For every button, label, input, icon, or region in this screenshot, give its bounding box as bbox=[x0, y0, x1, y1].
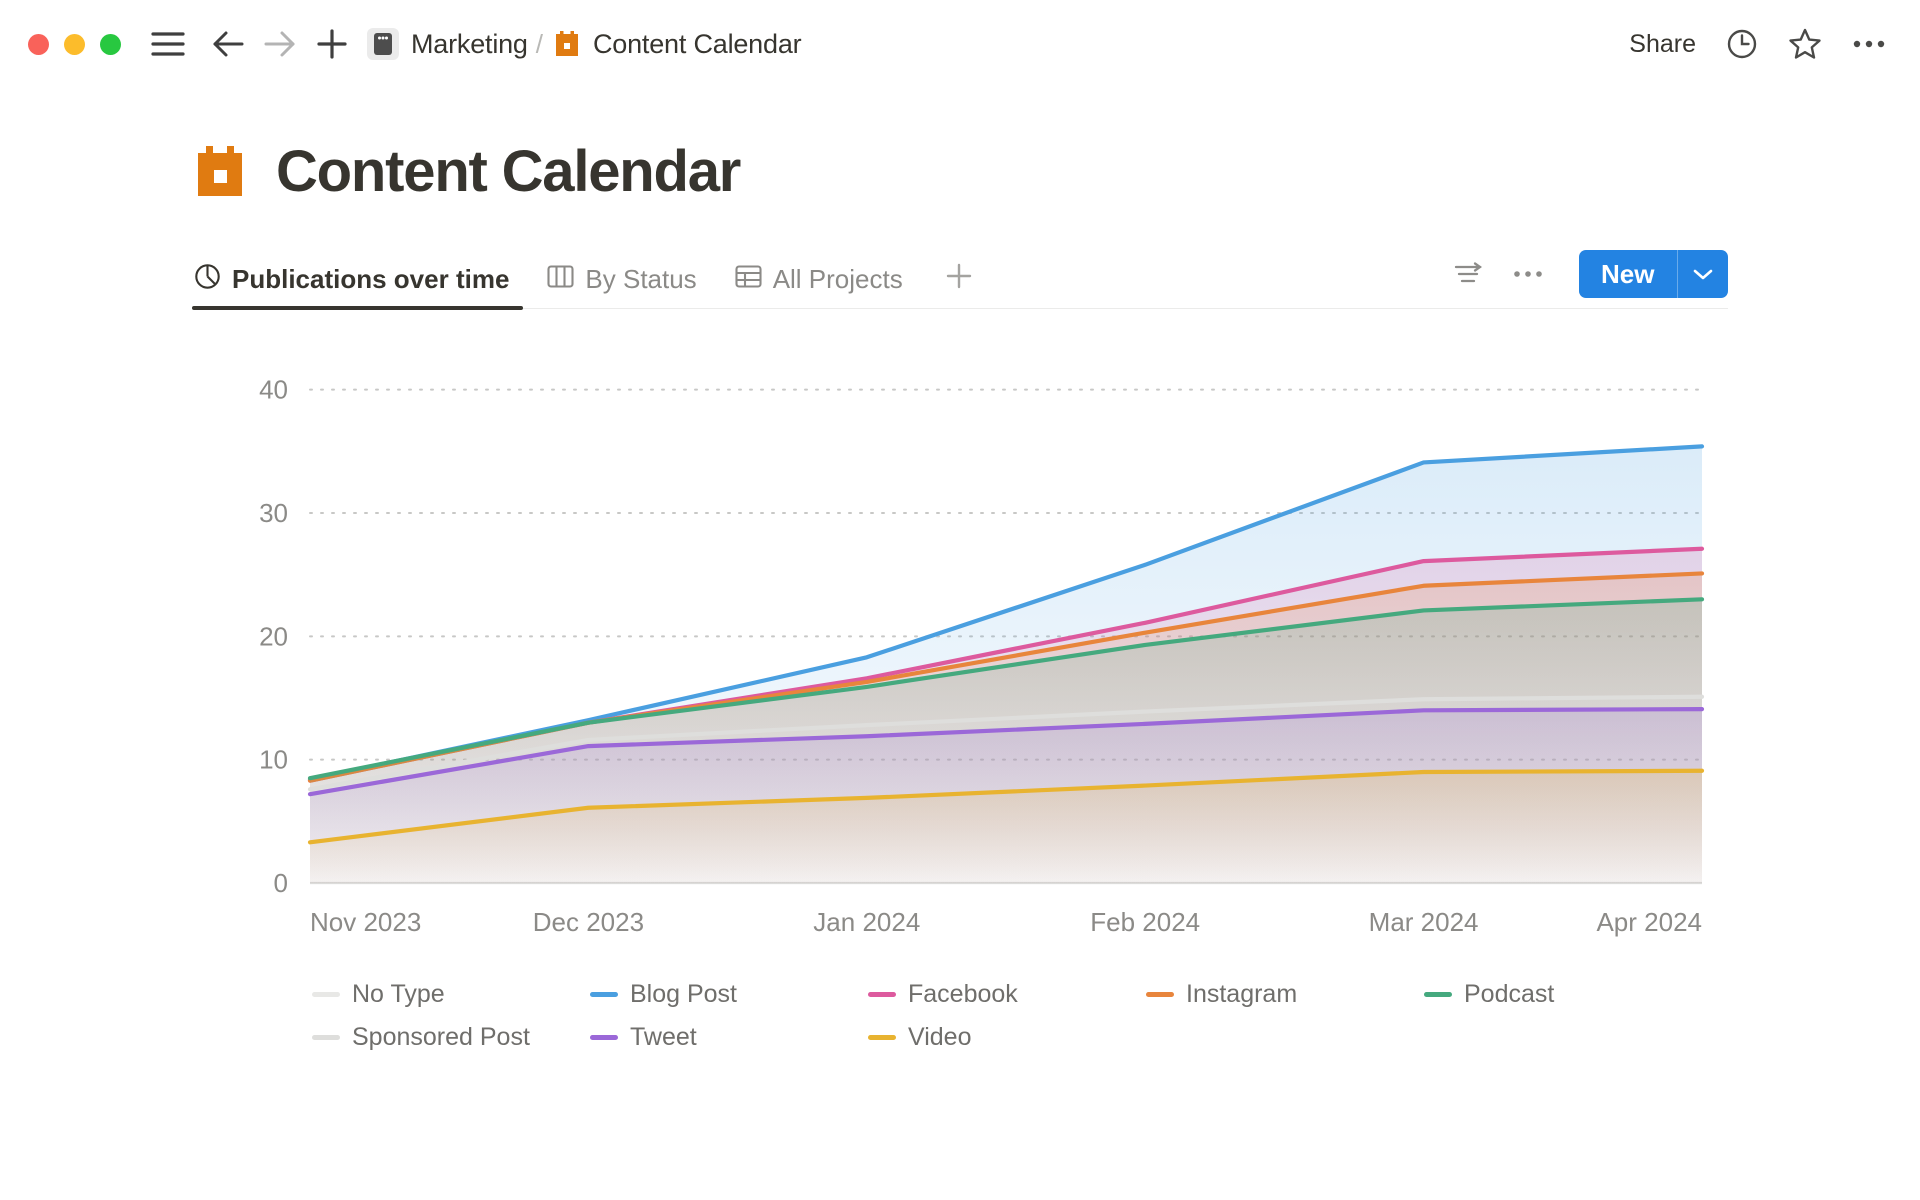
legend-swatch bbox=[312, 992, 340, 997]
svg-text:0: 0 bbox=[274, 868, 288, 898]
legend-swatch bbox=[590, 992, 618, 997]
legend-item[interactable]: Tweet bbox=[590, 1016, 868, 1059]
legend-label: Video bbox=[908, 1023, 972, 1052]
legend-item[interactable]: Instagram bbox=[1146, 973, 1424, 1016]
tab-label: All Projects bbox=[773, 264, 903, 295]
notebook-icon bbox=[367, 28, 399, 60]
legend-label: Sponsored Post bbox=[352, 1023, 530, 1052]
svg-text:Feb 2024: Feb 2024 bbox=[1090, 907, 1200, 937]
legend-label: Blog Post bbox=[630, 980, 737, 1009]
window-titlebar: Marketing / Content Calendar Share bbox=[0, 0, 1920, 88]
legend-label: Podcast bbox=[1464, 980, 1554, 1009]
breadcrumb-current[interactable]: Content Calendar bbox=[593, 29, 801, 60]
share-button[interactable]: Share bbox=[1629, 30, 1696, 59]
chevron-down-icon[interactable] bbox=[1678, 250, 1728, 298]
tab-by-status[interactable]: By Status bbox=[545, 247, 710, 308]
breadcrumb-separator: / bbox=[536, 29, 543, 60]
legend-item[interactable]: Podcast bbox=[1424, 973, 1702, 1016]
legend-item[interactable]: Blog Post bbox=[590, 973, 868, 1016]
svg-text:20: 20 bbox=[259, 621, 288, 651]
calendar-icon bbox=[553, 30, 581, 58]
tab-all-projects[interactable]: All Projects bbox=[733, 247, 917, 308]
svg-text:Nov 2023: Nov 2023 bbox=[310, 907, 421, 937]
filter-icon[interactable] bbox=[1449, 257, 1487, 291]
chart-container: 010203040Nov 2023Dec 2023Jan 2024Feb 202… bbox=[192, 343, 1728, 1059]
legend-swatch bbox=[590, 1035, 618, 1040]
chart-pie-icon bbox=[194, 263, 221, 297]
plus-icon[interactable] bbox=[311, 23, 353, 65]
svg-text:Jan 2024: Jan 2024 bbox=[813, 907, 920, 937]
tab-publications-over-time[interactable]: Publications over time bbox=[192, 247, 523, 308]
legend-item[interactable]: Video bbox=[868, 1016, 1146, 1059]
svg-text:Apr 2024: Apr 2024 bbox=[1596, 907, 1702, 937]
breadcrumb-parent[interactable]: Marketing bbox=[411, 29, 528, 60]
legend-item[interactable]: No Type bbox=[312, 973, 590, 1016]
close-button[interactable] bbox=[28, 34, 49, 55]
arrow-right-icon[interactable] bbox=[259, 23, 301, 65]
calendar-icon bbox=[192, 144, 248, 200]
clock-icon[interactable] bbox=[1726, 28, 1758, 60]
view-tabs: Publications over time By Status bbox=[192, 247, 979, 308]
tab-label: Publications over time bbox=[232, 264, 509, 295]
add-view-button[interactable] bbox=[939, 256, 979, 296]
legend-label: Tweet bbox=[630, 1023, 697, 1052]
minimize-button[interactable] bbox=[64, 34, 85, 55]
legend-item[interactable]: Facebook bbox=[868, 973, 1146, 1016]
legend-swatch bbox=[1424, 992, 1452, 997]
breadcrumb: Marketing / Content Calendar bbox=[367, 28, 801, 60]
arrow-left-icon[interactable] bbox=[207, 23, 249, 65]
legend-swatch bbox=[868, 992, 896, 997]
window-controls bbox=[28, 34, 121, 55]
legend-label: No Type bbox=[352, 980, 445, 1009]
svg-text:40: 40 bbox=[259, 375, 288, 405]
page-header: Content Calendar bbox=[192, 138, 1728, 205]
svg-text:Mar 2024: Mar 2024 bbox=[1369, 907, 1479, 937]
legend-label: Instagram bbox=[1186, 980, 1297, 1009]
publications-over-time-chart: 010203040Nov 2023Dec 2023Jan 2024Feb 202… bbox=[192, 343, 1732, 963]
tab-label: By Status bbox=[585, 264, 696, 295]
svg-text:30: 30 bbox=[259, 498, 288, 528]
view-toolbar: New bbox=[1449, 250, 1728, 298]
legend-swatch bbox=[312, 1035, 340, 1040]
svg-text:10: 10 bbox=[259, 745, 288, 775]
chart-legend: No TypeBlog PostFacebookInstagramPodcast… bbox=[312, 973, 1702, 1059]
ellipsis-icon[interactable] bbox=[1852, 38, 1886, 50]
page-title: Content Calendar bbox=[276, 138, 740, 205]
star-icon[interactable] bbox=[1788, 27, 1822, 61]
new-button-label: New bbox=[1579, 250, 1676, 298]
legend-item[interactable]: Sponsored Post bbox=[312, 1016, 590, 1059]
titlebar-actions: Share bbox=[1629, 27, 1892, 61]
hamburger-icon[interactable] bbox=[147, 23, 189, 65]
legend-label: Facebook bbox=[908, 980, 1018, 1009]
page-content: Content Calendar Publications over time bbox=[0, 138, 1920, 1059]
new-button[interactable]: New bbox=[1579, 250, 1728, 298]
table-icon bbox=[735, 264, 762, 296]
view-tabs-bar: Publications over time By Status bbox=[192, 247, 1728, 309]
legend-swatch bbox=[1146, 992, 1174, 997]
maximize-button[interactable] bbox=[100, 34, 121, 55]
ellipsis-icon[interactable] bbox=[1509, 265, 1547, 283]
board-icon bbox=[547, 264, 574, 296]
svg-text:Dec 2023: Dec 2023 bbox=[533, 907, 644, 937]
legend-swatch bbox=[868, 1035, 896, 1040]
